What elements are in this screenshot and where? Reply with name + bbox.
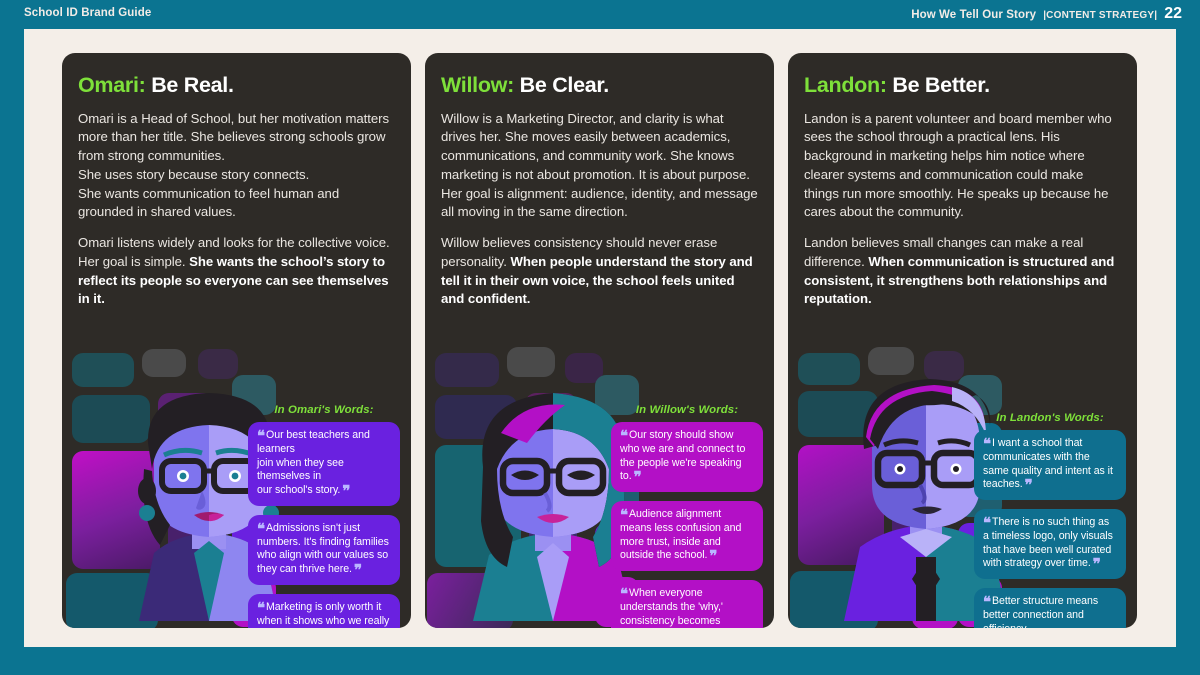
persona-quotes-title: In Landon's Words: <box>974 412 1126 424</box>
persona-name: Landon: <box>804 73 887 97</box>
persona-heading: Landon: Be Better. <box>804 74 1121 98</box>
quote-open-icon: ❝ <box>983 515 991 532</box>
persona-quote: ❝I want a school that communicates with … <box>974 430 1126 500</box>
persona-card-landon: Landon: Be Better.Landon is a parent vol… <box>788 53 1137 628</box>
persona-quotes: In Omari's Words:❝Our best teachers and … <box>248 404 400 628</box>
quote-close-icon: ❞ <box>709 548 717 565</box>
header-right-group: How We Tell Our Story |CONTENT STRATEGY|… <box>911 5 1182 23</box>
persona-tagline: Be Better. <box>892 73 989 97</box>
persona-quote-text: Marketing is only worth it when it shows… <box>257 601 389 628</box>
persona-quote: ❝Audience alignment means less confusion… <box>611 501 763 571</box>
quote-open-icon: ❝ <box>257 600 265 617</box>
persona-paragraph-text: Willow is a Marketing Director, and clar… <box>441 111 758 220</box>
persona-name: Willow: <box>441 73 514 97</box>
persona-quote-text: I want a school that communicates with t… <box>983 437 1113 490</box>
persona-quotes: In Landon's Words:❝I want a school that … <box>974 412 1126 628</box>
persona-quotes: In Willow's Words:❝Our story should show… <box>611 404 763 628</box>
persona-paragraph: Landon is a parent volunteer and board m… <box>804 110 1121 222</box>
quote-open-icon: ❝ <box>983 436 991 453</box>
persona-tagline: Be Clear. <box>520 73 609 97</box>
persona-card-row: Omari: Be Real.Omari is a Head of School… <box>62 53 1138 628</box>
quote-open-icon: ❝ <box>620 586 628 603</box>
persona-paragraph-text: Omari is a Head of School, but her motiv… <box>78 111 389 163</box>
persona-paragraph: Willow believes consistency should never… <box>441 234 758 309</box>
persona-quote: ❝Marketing is only worth it when it show… <box>248 594 400 628</box>
persona-quote: ❝Admissions isn't just numbers. It's fin… <box>248 515 400 585</box>
page-sheet: Omari: Be Real.Omari is a Head of School… <box>24 29 1176 647</box>
quote-close-icon: ❞ <box>657 627 665 628</box>
header-brand-title: School ID Brand Guide <box>24 7 151 19</box>
persona-paragraph-text: She wants communication to feel human an… <box>78 186 339 220</box>
persona-card-omari: Omari: Be Real.Omari is a Head of School… <box>62 53 411 628</box>
persona-paragraph: Willow is a Marketing Director, and clar… <box>441 110 758 222</box>
persona-quote: ❝There is no such thing as a timeless lo… <box>974 509 1126 579</box>
persona-quote-text: Better structure means better connection… <box>983 595 1098 628</box>
persona-heading: Willow: Be Clear. <box>441 74 758 98</box>
persona-card-willow: Willow: Be Clear.Willow is a Marketing D… <box>425 53 774 628</box>
header-section-title: How We Tell Our Story <box>911 9 1036 21</box>
persona-quote-text: Audience alignment means less confusion … <box>620 508 741 561</box>
persona-quote: ❝Better structure means better connectio… <box>974 588 1126 628</box>
quote-close-icon: ❞ <box>354 562 362 579</box>
persona-quote-text: Our best teachers and learnersjoin when … <box>257 429 370 496</box>
persona-quote: ❝Our best teachers and learnersjoin when… <box>248 422 400 506</box>
quote-close-icon: ❞ <box>342 483 350 500</box>
persona-paragraph: Omari is a Head of School, but her motiv… <box>78 110 395 222</box>
persona-heading: Omari: Be Real. <box>78 74 395 98</box>
persona-quote: ❝Our story should show who we are and co… <box>611 422 763 492</box>
persona-body: Omari is a Head of School, but her motiv… <box>78 110 395 309</box>
persona-name: Omari: <box>78 73 146 97</box>
persona-quotes-title: In Willow's Words: <box>611 404 763 416</box>
persona-quote: ❝When everyone understands the 'why,' co… <box>611 580 763 628</box>
quote-open-icon: ❝ <box>620 428 628 445</box>
quote-open-icon: ❝ <box>257 521 265 538</box>
persona-body: Willow is a Marketing Director, and clar… <box>441 110 758 309</box>
persona-body: Landon is a parent volunteer and board m… <box>804 110 1121 309</box>
page-number: 22 <box>1164 5 1182 23</box>
persona-paragraph: Landon believes small changes can make a… <box>804 234 1121 309</box>
header-section-subtitle: |CONTENT STRATEGY| <box>1043 10 1157 21</box>
persona-quote-text: Admissions isn't just numbers. It's find… <box>257 522 389 575</box>
page-header: School ID Brand Guide How We Tell Our St… <box>0 0 1200 29</box>
quote-close-icon: ❞ <box>1093 556 1101 573</box>
persona-tagline: Be Real. <box>151 73 233 97</box>
quote-close-icon: ❞ <box>634 469 642 486</box>
persona-paragraph: Omari listens widely and looks for the c… <box>78 234 395 309</box>
persona-paragraph-text: She uses story because story connects. <box>78 167 309 182</box>
quote-open-icon: ❝ <box>983 594 991 611</box>
quote-close-icon: ❞ <box>1025 477 1033 494</box>
persona-paragraph-text: Landon is a parent volunteer and board m… <box>804 111 1112 220</box>
quote-open-icon: ❝ <box>620 507 628 524</box>
persona-quote-text: When everyone understands the 'why,' con… <box>620 587 723 628</box>
quote-open-icon: ❝ <box>257 428 265 445</box>
persona-quotes-title: In Omari's Words: <box>248 404 400 416</box>
